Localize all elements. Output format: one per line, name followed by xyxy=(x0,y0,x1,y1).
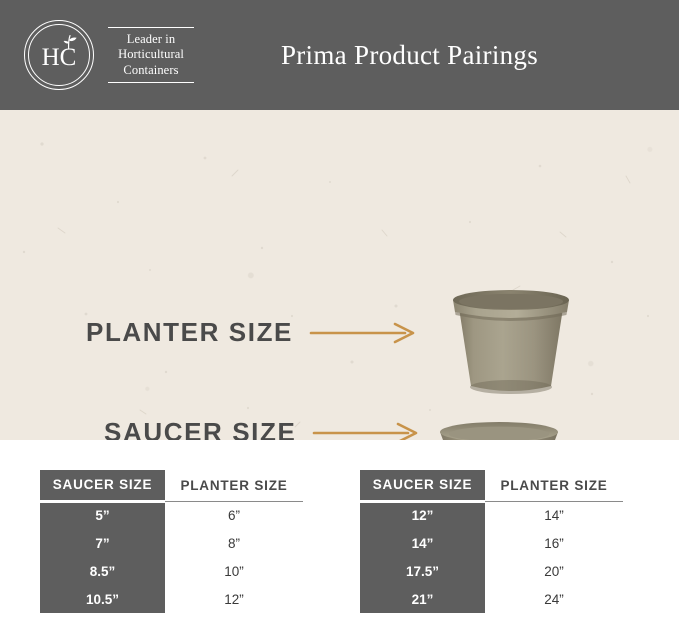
cell-planter-size: 20” xyxy=(485,557,623,585)
right-arrow-icon xyxy=(312,421,424,441)
table-header-row: SAUCER SIZE PLANTER SIZE xyxy=(360,470,623,501)
table-row: 17.5” 20” xyxy=(360,557,623,585)
hero-section: PLANTER SIZE SAUCER SIZE xyxy=(0,110,679,440)
cell-planter-size: 16” xyxy=(485,529,623,557)
saucer-size-label: SAUCER SIZE xyxy=(104,417,296,440)
product-pairings-infographic: HC Leader in Horticultural Containers Pr… xyxy=(0,0,679,636)
right-arrow-icon xyxy=(309,321,421,345)
pairing-table-left: SAUCER SIZE PLANTER SIZE 5” 6” 7” 8” 8.5… xyxy=(40,470,303,613)
column-header-planter-size: PLANTER SIZE xyxy=(165,470,303,501)
saucer-dish-image xyxy=(434,418,564,440)
cell-saucer-size: 8.5” xyxy=(40,557,165,585)
column-header-saucer-size: SAUCER SIZE xyxy=(360,470,485,501)
hero-textured-background xyxy=(0,110,679,440)
cell-planter-size: 24” xyxy=(485,585,623,613)
cell-saucer-size: 5” xyxy=(40,501,165,529)
planter-size-label: PLANTER SIZE xyxy=(86,317,293,348)
column-header-planter-size: PLANTER SIZE xyxy=(485,470,623,501)
cell-saucer-size: 12” xyxy=(360,501,485,529)
cell-planter-size: 14” xyxy=(485,501,623,529)
planter-pot-image xyxy=(447,282,575,398)
table-row: 7” 8” xyxy=(40,529,303,557)
cell-saucer-size: 17.5” xyxy=(360,557,485,585)
table-header-row: SAUCER SIZE PLANTER SIZE xyxy=(40,470,303,501)
cell-saucer-size: 14” xyxy=(360,529,485,557)
cell-planter-size: 10” xyxy=(165,557,303,585)
planter-size-callout: PLANTER SIZE xyxy=(86,317,421,348)
pairing-table-right: SAUCER SIZE PLANTER SIZE 12” 14” 14” 16”… xyxy=(360,470,623,613)
cell-planter-size: 8” xyxy=(165,529,303,557)
header-bar: HC Leader in Horticultural Containers Pr… xyxy=(0,0,679,110)
table-row: 5” 6” xyxy=(40,501,303,529)
table-row: 14” 16” xyxy=(360,529,623,557)
cell-saucer-size: 7” xyxy=(40,529,165,557)
page-title: Prima Product Pairings xyxy=(0,0,679,110)
saucer-size-callout: SAUCER SIZE xyxy=(104,417,424,440)
cell-planter-size: 12” xyxy=(165,585,303,613)
table-row: 12” 14” xyxy=(360,501,623,529)
table-row: 8.5” 10” xyxy=(40,557,303,585)
column-header-saucer-size: SAUCER SIZE xyxy=(40,470,165,501)
cell-saucer-size: 21” xyxy=(360,585,485,613)
table-row: 21” 24” xyxy=(360,585,623,613)
table-row: 10.5” 12” xyxy=(40,585,303,613)
size-pairing-tables: SAUCER SIZE PLANTER SIZE 5” 6” 7” 8” 8.5… xyxy=(0,470,679,636)
cell-saucer-size: 10.5” xyxy=(40,585,165,613)
cell-planter-size: 6” xyxy=(165,501,303,529)
